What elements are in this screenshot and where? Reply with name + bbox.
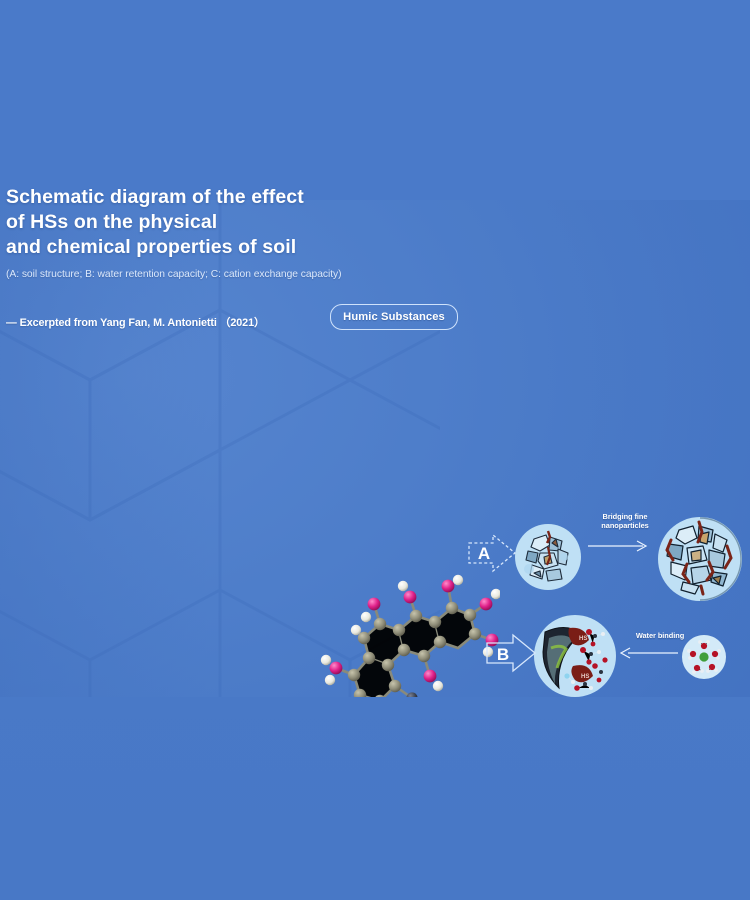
attribution-text: — Excerpted from Yang Fan, M. Antonietti… (6, 314, 346, 330)
marker-b[interactable]: B (485, 632, 537, 674)
humic-substances-label[interactable]: Humic Substances (330, 304, 458, 330)
poster-canvas: Bridging fine nanoparticles (0, 0, 750, 900)
panel-bridged-soil-aggregate (657, 516, 743, 602)
caption-bridging-fine-nanoparticles: Bridging fine nanoparticles (586, 512, 664, 530)
page-title-line-1: Schematic diagram of the effect (6, 185, 346, 210)
panel-humic-substance-water-film: HS HS (533, 614, 617, 697)
marker-a[interactable]: A (467, 533, 517, 573)
caption-water-binding: Water binding (624, 631, 696, 640)
arrow-row-a (588, 539, 650, 553)
marker-b-letter: B (497, 645, 509, 664)
svg-text:HS: HS (581, 674, 589, 680)
page-title-line-2: of HSs on the physical (6, 210, 346, 235)
panel-hydrated-ion-cluster (681, 634, 727, 680)
arrow-row-b (620, 646, 678, 660)
page-subtitle: (A: soil structure; B: water retention c… (6, 268, 346, 282)
panel-loose-soil-aggregate (514, 523, 582, 591)
title-block: Schematic diagram of the effect of HSs o… (6, 185, 346, 330)
page-title-line-3: and chemical properties of soil (6, 235, 346, 260)
svg-text:HS: HS (579, 636, 587, 642)
marker-a-letter: A (478, 544, 490, 563)
